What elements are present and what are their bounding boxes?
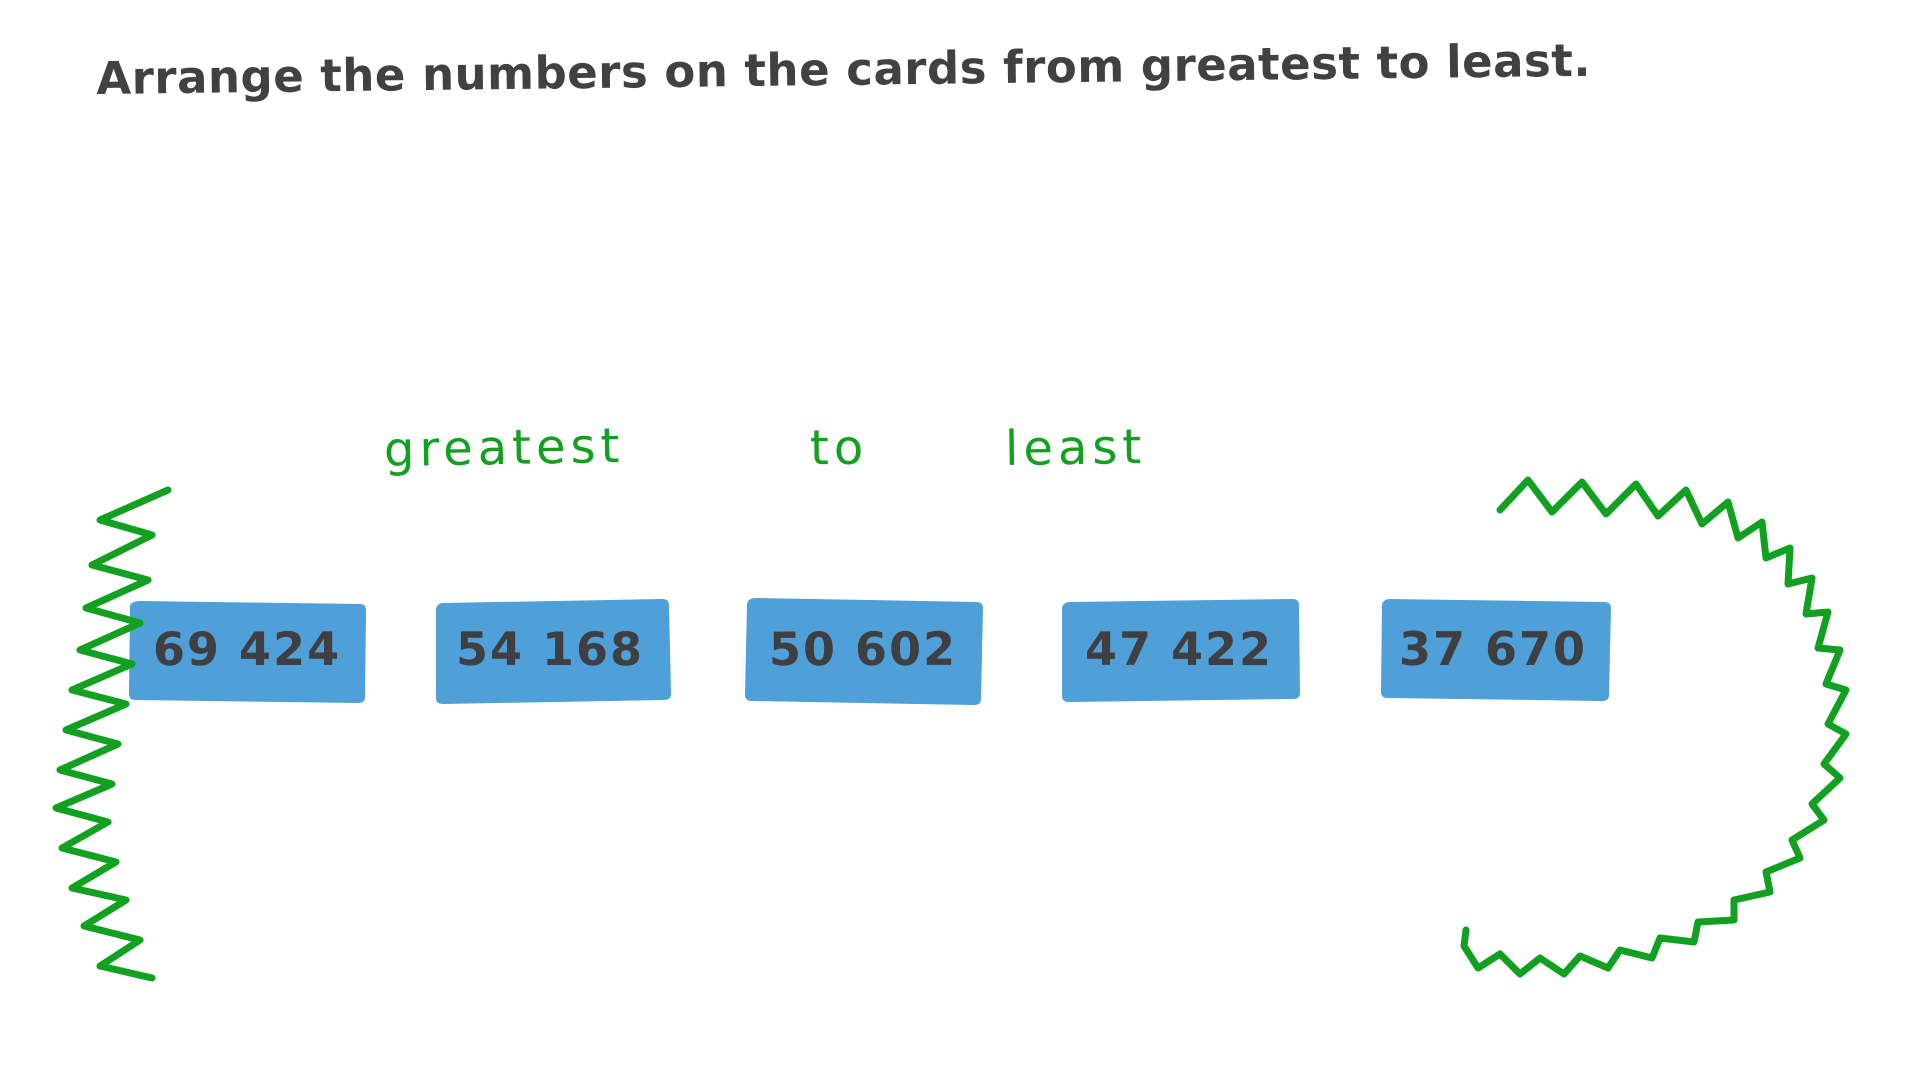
number-card-value: 69 424 [153, 622, 341, 676]
number-card-value: 50 602 [769, 622, 957, 676]
number-card-value: 54 168 [456, 622, 644, 676]
number-card[interactable]: 69 424 [127, 599, 366, 699]
number-card[interactable]: 50 602 [744, 598, 982, 700]
annotation-label-greatest: greatest [384, 418, 625, 478]
number-card-value: 37 670 [1399, 622, 1587, 676]
number-card[interactable]: 37 670 [1380, 599, 1607, 699]
number-card[interactable]: 54 168 [433, 598, 666, 699]
number-card-value: 47 422 [1085, 622, 1273, 676]
number-card[interactable]: 47 422 [1060, 599, 1299, 699]
annotation-label-least: least [1005, 419, 1147, 477]
annotation-label-to: to [810, 420, 869, 477]
cards-row: 69 424 54 168 50 602 47 422 37 670 [0, 0, 1920, 1080]
worksheet-canvas: Arrange the numbers on the cards from gr… [0, 0, 1920, 1080]
